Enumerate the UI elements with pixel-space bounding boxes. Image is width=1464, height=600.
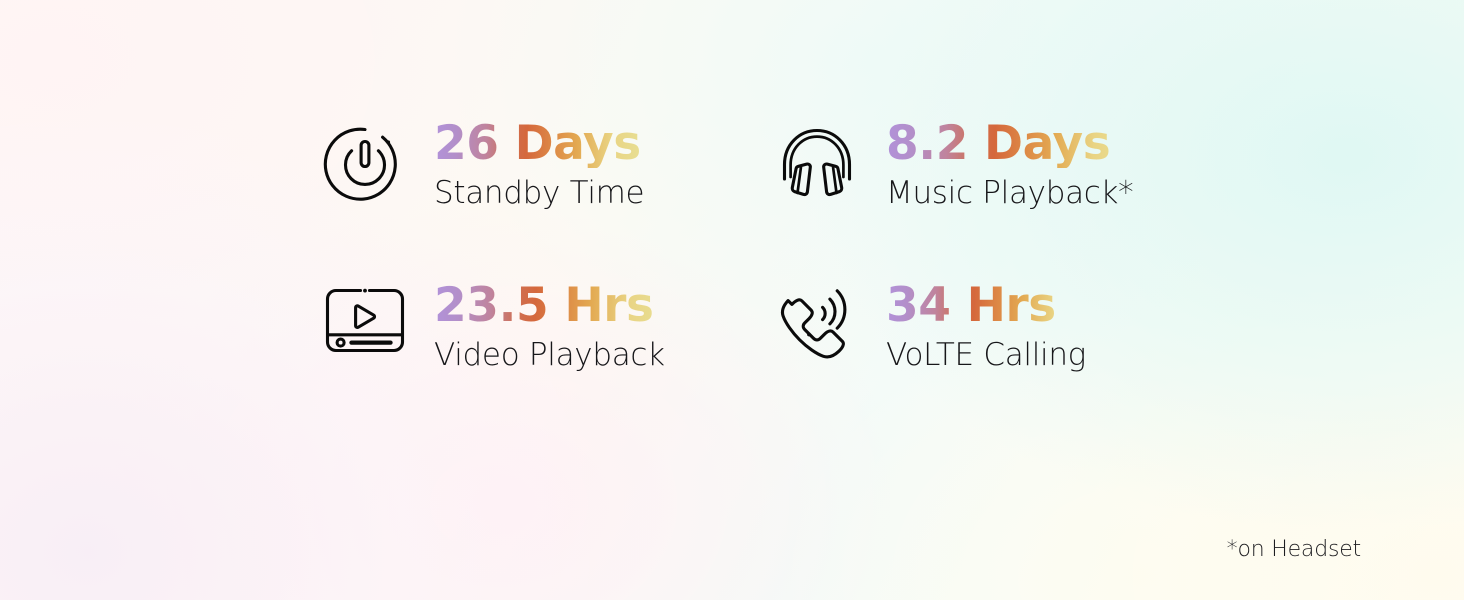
stat-text-video-playback: 23.5 Hrs Video Playback: [434, 280, 665, 375]
stat-text-volte-calling: 34 Hrs VoLTE Calling: [886, 280, 1086, 375]
stat-text-music-playback: 8.2 Days Music Playback*: [886, 118, 1133, 213]
stat-card-music-playback: 8.2 Days Music Playback*: [732, 118, 1464, 284]
stat-value: 23.5 Hrs: [434, 282, 665, 330]
stat-value: 34 Hrs: [886, 282, 1086, 330]
footnote-text: *on Headset: [1227, 537, 1361, 562]
stat-label: Standby Time: [434, 175, 645, 213]
stat-value: 8.2 Days: [886, 120, 1133, 168]
power-button-icon: [322, 118, 408, 212]
headphones-icon: [774, 118, 860, 212]
stat-card-volte-calling: 34 Hrs VoLTE Calling: [732, 280, 1464, 450]
phone-call-icon: [774, 280, 860, 374]
stat-card-video-playback: 23.5 Hrs Video Playback: [0, 280, 732, 450]
stat-label: Music Playback*: [886, 175, 1133, 213]
stat-label: Video Playback: [434, 337, 665, 375]
video-player-icon: [322, 280, 408, 374]
battery-stats-grid: 26 Days Standby Time 8.2 Days Music Play…: [0, 0, 1464, 600]
stat-label: VoLTE Calling: [886, 337, 1086, 375]
stat-value: 26 Days: [434, 120, 645, 168]
stat-text-standby-time: 26 Days Standby Time: [434, 118, 645, 213]
stat-card-standby-time: 26 Days Standby Time: [0, 118, 732, 284]
